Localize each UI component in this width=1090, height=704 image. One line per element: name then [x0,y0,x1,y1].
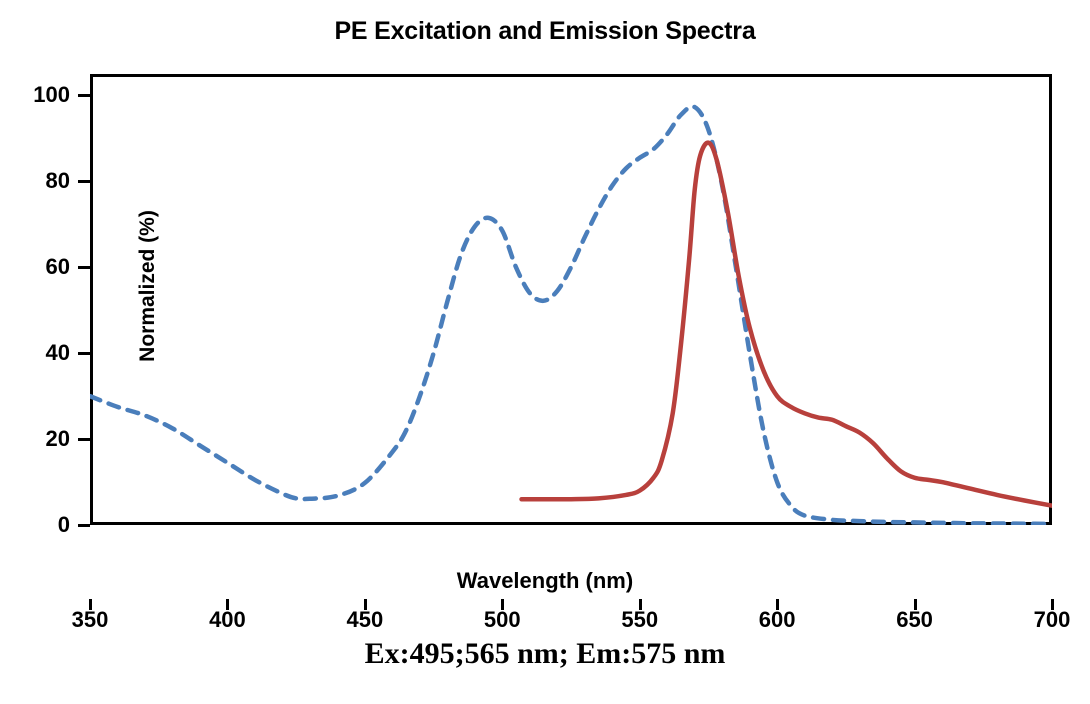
x-tick-label: 500 [457,607,547,633]
y-tick-label: 60 [12,254,70,280]
x-tick-mark [226,599,229,610]
y-tick-label: 0 [12,512,70,538]
series-line-excitation [90,106,1052,523]
x-tick-mark [1051,599,1054,610]
y-tick-mark [78,352,90,355]
x-tick-mark [364,599,367,610]
y-tick-mark [78,524,90,527]
y-axis-title: Normalized (%) [136,176,160,396]
figure-caption: Ex:495;565 nm; Em:575 nm [0,637,1090,671]
x-tick-label: 400 [182,607,272,633]
chart-title: PE Excitation and Emission Spectra [0,17,1090,46]
x-axis-title: Wavelength (nm) [0,568,1090,594]
x-tick-label: 600 [732,607,822,633]
x-tick-label: 550 [595,607,685,633]
x-tick-mark [89,599,92,610]
y-tick-mark [78,94,90,97]
y-tick-mark [78,438,90,441]
x-tick-mark [914,599,917,610]
y-tick-label: 100 [12,82,70,108]
y-tick-label: 40 [12,340,70,366]
x-tick-label: 350 [45,607,135,633]
x-tick-label: 450 [320,607,410,633]
y-tick-label: 20 [12,426,70,452]
x-tick-mark [776,599,779,610]
series-line-emission [522,143,1052,506]
plot-curves [90,74,1052,525]
x-tick-mark [501,599,504,610]
y-tick-label: 80 [12,168,70,194]
y-tick-mark [78,180,90,183]
x-tick-label: 650 [870,607,960,633]
y-tick-mark [78,266,90,269]
x-tick-label: 700 [1007,607,1090,633]
spectra-figure: PE Excitation and Emission Spectra Norma… [0,0,1090,704]
plot-area: Normalized (%) 0204060801003504004505005… [90,74,1052,525]
x-tick-mark [639,599,642,610]
